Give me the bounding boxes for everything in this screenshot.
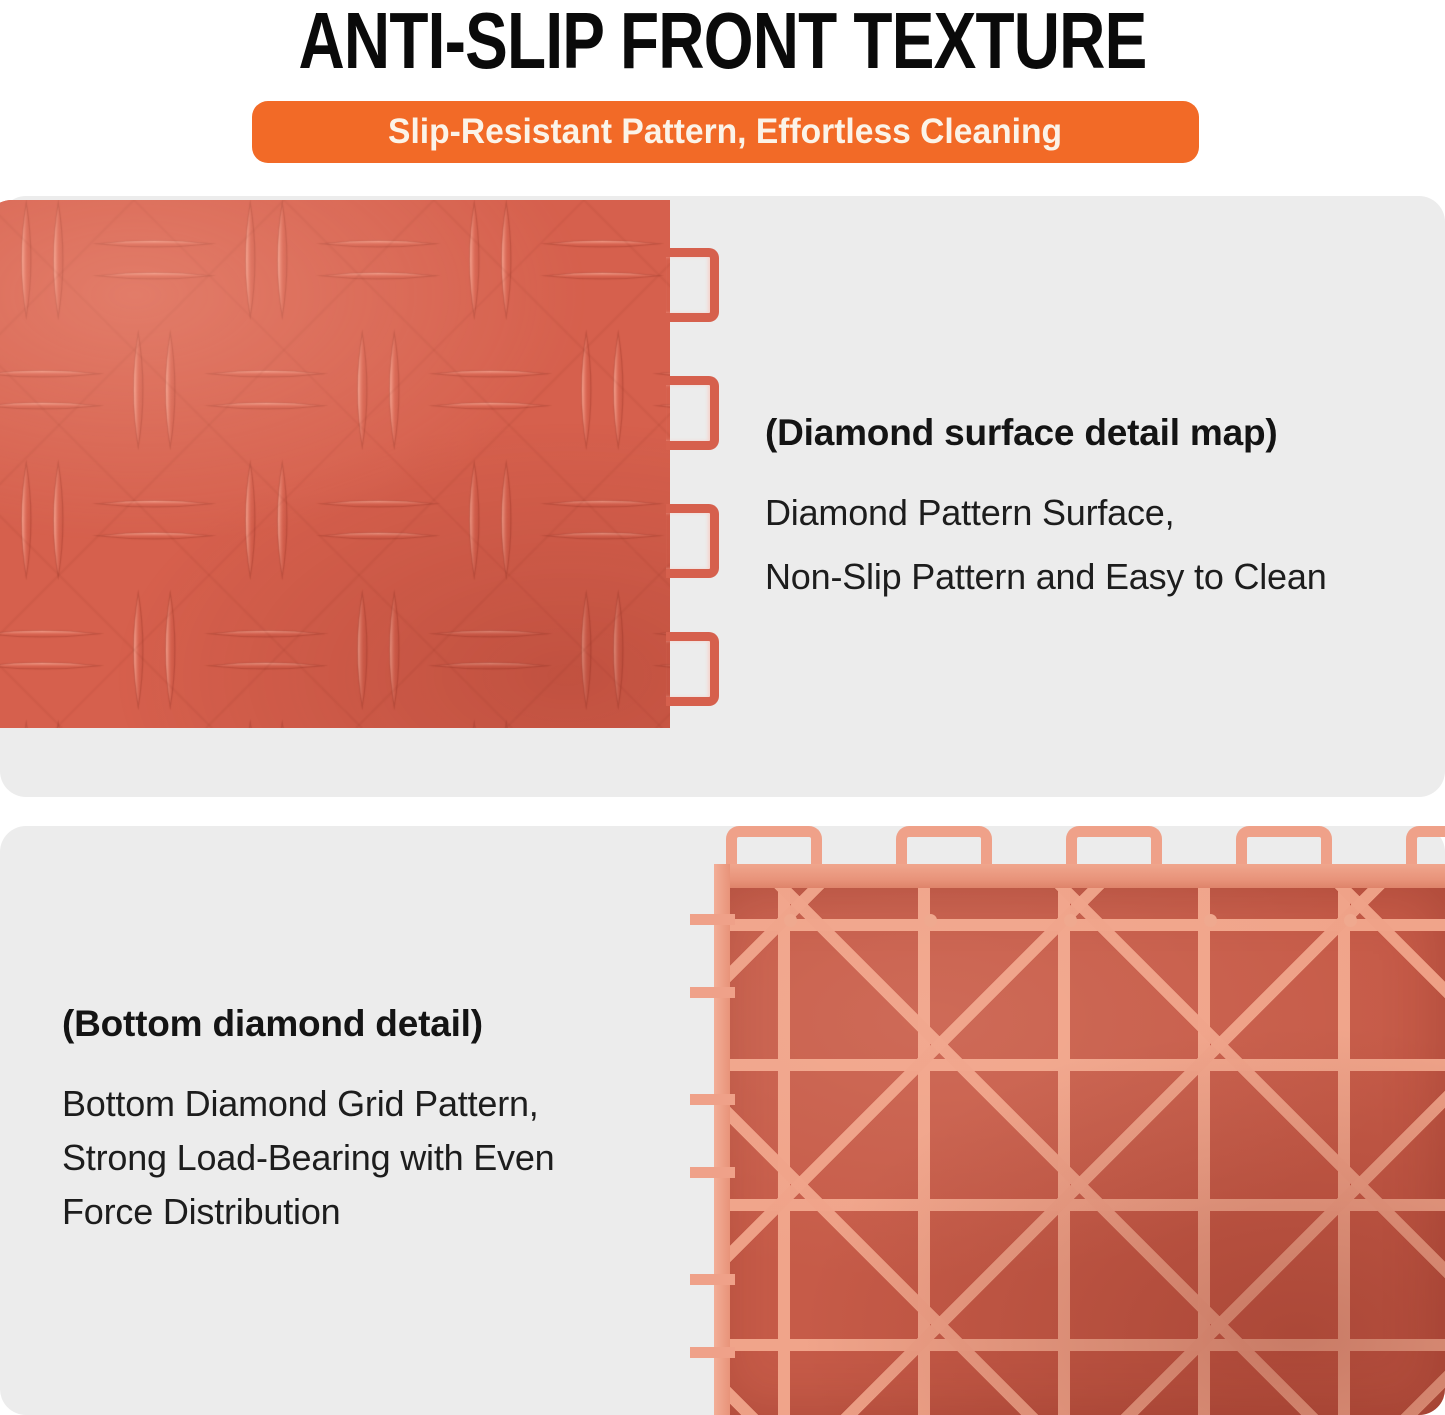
- bottom-grid-line-3: Force Distribution: [62, 1191, 555, 1233]
- grid-peg-4: [1204, 914, 1217, 927]
- tile-top-rail: [714, 864, 1445, 890]
- grid-diagonal-braces-b: [714, 888, 1445, 1415]
- grid-peg-2: [924, 914, 937, 927]
- grid-peg-5: [1344, 914, 1357, 927]
- grid-peg-3: [1064, 914, 1077, 927]
- bottom-grid-text-block: (Bottom diamond detail) Bottom Diamond G…: [62, 1003, 555, 1245]
- bottom-grid-line-1: Bottom Diamond Grid Pattern,: [62, 1083, 555, 1125]
- connector-tabs-top-row: [690, 826, 1445, 868]
- diamond-surface-text-block: (Diamond surface detail map) Diamond Pat…: [765, 412, 1327, 620]
- tile-underside-grid-photo: [690, 826, 1445, 1415]
- connector-tab-right-1: [666, 248, 719, 322]
- diamond-plate-pattern: [0, 200, 670, 728]
- tile-face-body: [0, 200, 670, 728]
- connector-tab-right-3: [666, 504, 719, 578]
- page-title: ANTI-SLIP FRONT TEXTURE: [145, 0, 1301, 84]
- diamond-surface-line-1: Diamond Pattern Surface,: [765, 492, 1327, 534]
- connector-tab-left-2: [690, 1094, 735, 1178]
- diamond-surface-line-2: Non-Slip Pattern and Easy to Clean: [765, 556, 1327, 598]
- connector-tab-right-2: [666, 376, 719, 450]
- grid-peg-1: [784, 914, 797, 927]
- connector-tab-left-1: [690, 914, 735, 998]
- connector-tab-right-4: [666, 632, 719, 706]
- subtitle-badge: Slip-Resistant Pattern, Effortless Clean…: [252, 101, 1199, 163]
- diamond-plate-surface-photo: [0, 196, 706, 728]
- bottom-grid-heading: (Bottom diamond detail): [62, 1003, 555, 1045]
- bottom-grid-line-2: Strong Load-Bearing with Even: [62, 1137, 555, 1179]
- connector-tab-left-3: [690, 1274, 735, 1358]
- header: ANTI-SLIP FRONT TEXTURE Slip-Resistant P…: [0, 0, 1445, 190]
- subtitle-badge-label: Slip-Resistant Pattern, Effortless Clean…: [388, 112, 1062, 152]
- diamond-surface-heading: (Diamond surface detail map): [765, 412, 1327, 454]
- tile-grid-body: [714, 888, 1445, 1415]
